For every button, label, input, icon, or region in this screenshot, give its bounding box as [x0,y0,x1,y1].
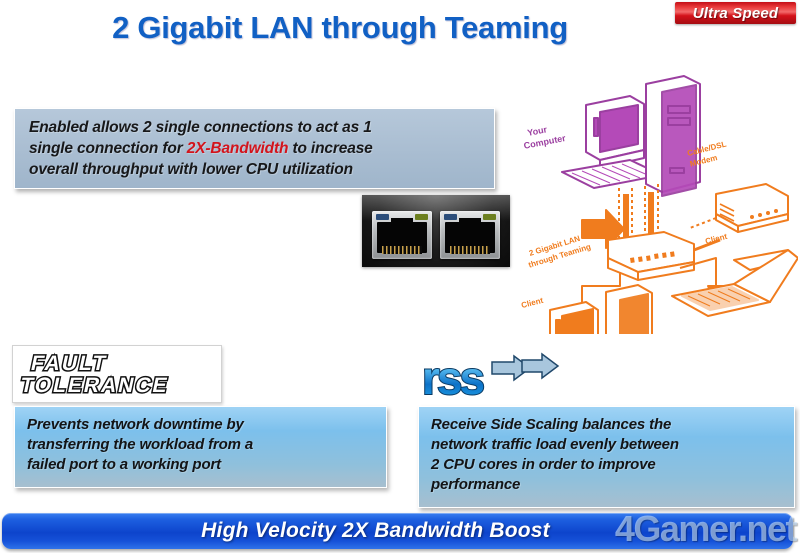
rss-line-1: Receive Side Scaling balances the [431,415,784,435]
label-client-right: Client [704,232,728,246]
footer-bar: High Velocity 2X Bandwidth Boost [2,513,793,549]
fault-tolerance-line-1: Prevents network downtime by [27,415,376,435]
rss-logo: rss [418,348,568,400]
label-your-computer: YourComputer [521,121,567,151]
port-pins [450,246,490,254]
ethernet-ports-photo [362,195,510,267]
ultra-speed-badge: Ultra Speed [675,2,796,24]
cable-dsl-modem-icon [716,184,788,232]
rss-arrow-2-icon [522,354,558,378]
description-line-3: overall throughput with lower CPU utiliz… [29,159,482,180]
slide-root: Ultra Speed 2 Gigabit LAN through Teamin… [0,0,800,553]
rss-logo-text: rss [422,352,483,400]
rj45-port-right-icon [440,211,500,259]
description-line-2-suffix: to increase [288,140,372,157]
port-led-right-icon [415,214,428,220]
fault-tolerance-box: Prevents network downtime by transferrin… [14,406,387,488]
rj45-port-left-icon [372,211,432,259]
rss-line-2: network traffic load evenly between [431,435,784,455]
label-client-left: Client [520,296,544,310]
fault-tolerance-logo-line-1: FAULT [29,352,110,375]
footer-slogan: High Velocity 2X Bandwidth Boost [201,519,550,543]
fault-tolerance-logo-line-2: TOLERANCE [18,374,171,397]
computer-tower-icon [646,76,700,196]
port-led-right-icon [483,214,496,220]
rss-line-4: performance [431,475,784,495]
your-computer-monitor-icon [586,96,644,168]
fault-tolerance-line-2: transferring the workload from a [27,435,376,455]
port-led-left-icon [444,214,457,220]
port-led-left-icon [376,214,389,220]
fault-tolerance-logo: FAULT TOLERANCE [12,345,222,403]
bandwidth-highlight: 2X-Bandwidth [187,140,289,157]
rss-line-3: 2 CPU cores in order to improve [431,455,784,475]
description-line-2: single connection for 2X-Bandwidth to in… [29,138,482,159]
modem-switch-link [690,218,716,228]
ultra-speed-badge-label: Ultra Speed [693,5,779,22]
port-pins [382,246,422,254]
teaming-cables-solid [626,192,651,240]
network-diagram: .pl{fill:none;stroke:#9b3fa0;stroke-widt… [520,72,798,334]
client-desktop-icon [528,285,652,334]
description-line-1: Enabled allows 2 single connections to a… [29,117,482,138]
fault-tolerance-line-3: failed port to a working port [27,455,376,475]
description-box: Enabled allows 2 single connections to a… [14,108,495,189]
rss-box: Receive Side Scaling balances the networ… [418,406,795,508]
page-title: 2 Gigabit LAN through Teaming [0,10,680,46]
description-line-2-prefix: single connection for [29,140,187,157]
